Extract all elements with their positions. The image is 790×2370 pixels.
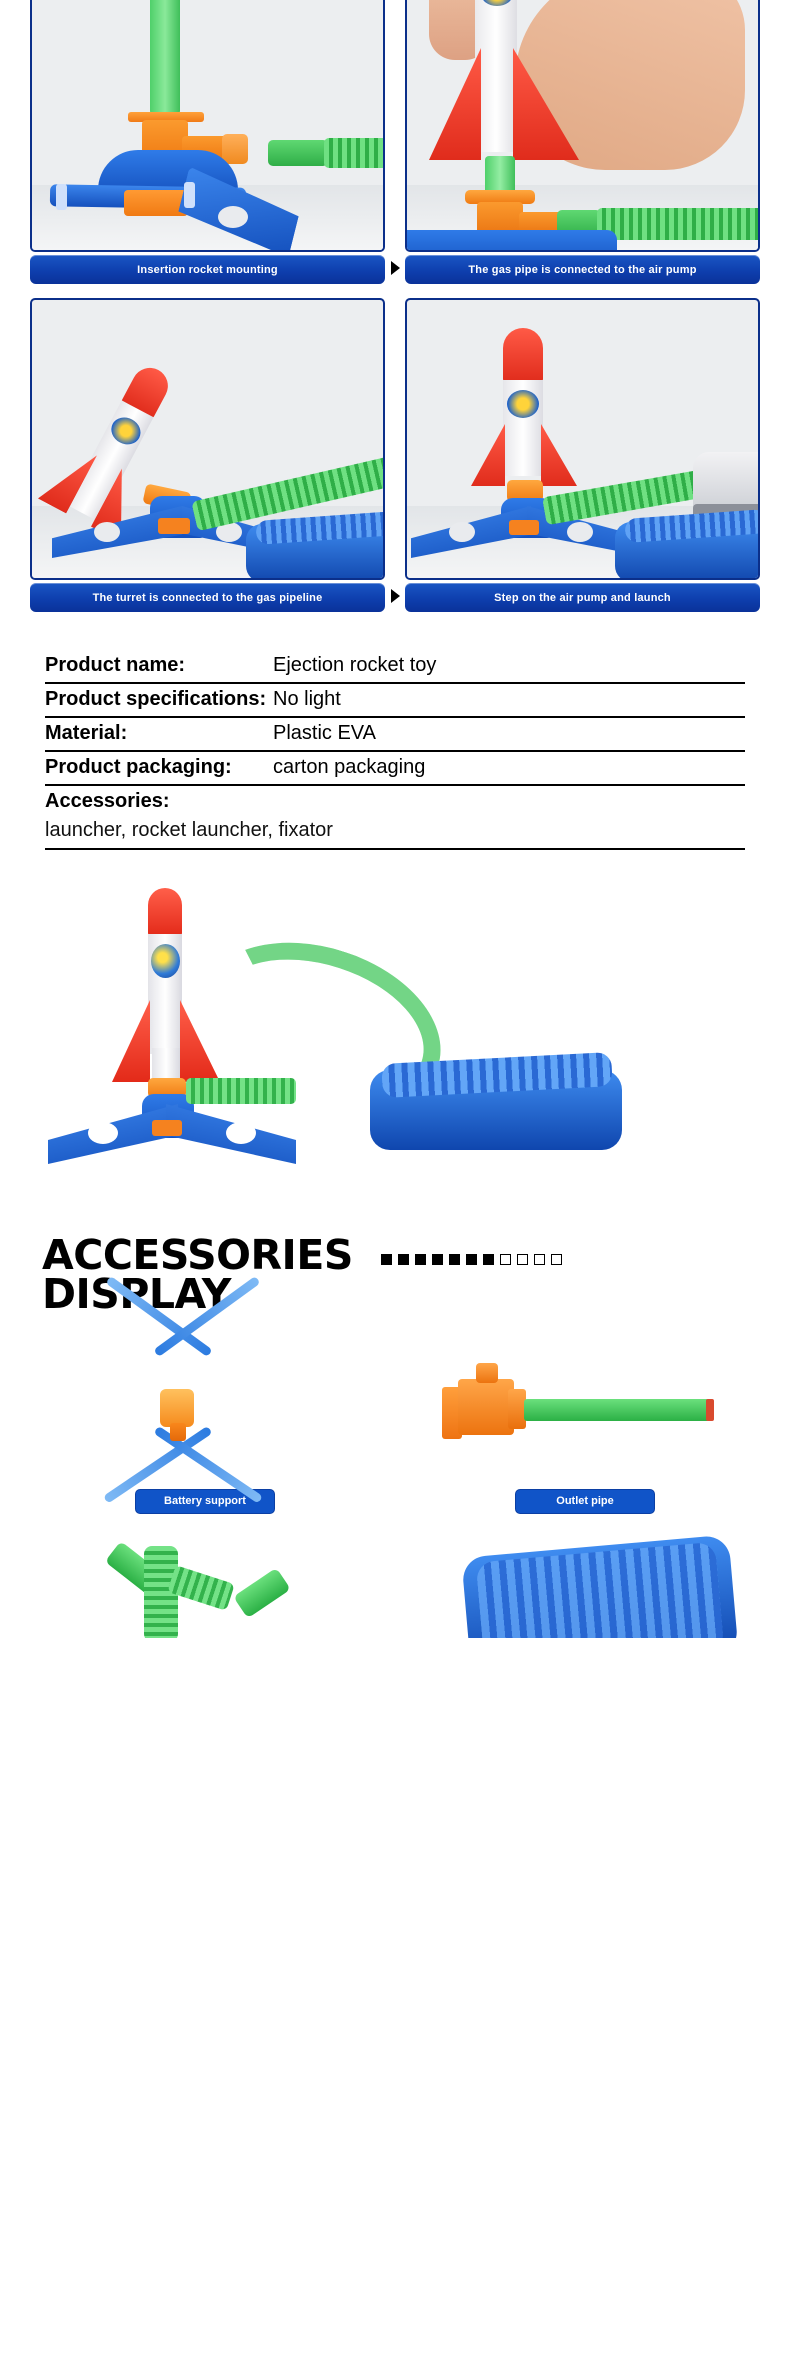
- assembly-steps-section: Insertion rocket mounting The gas pipe i…: [0, 0, 790, 612]
- dot-filled-icon: [381, 1254, 392, 1265]
- dot-filled-icon: [432, 1254, 443, 1265]
- step-captions-row-1: Insertion rocket mounting The gas pipe i…: [30, 252, 760, 284]
- spec-key: Product packaging:: [45, 756, 273, 779]
- accessories-row-2: [40, 1528, 750, 1638]
- accessories-display-header: ACCESSORIES DISPLAY: [0, 1192, 790, 1315]
- step-photo-2: [405, 0, 760, 252]
- spec-value: No light: [273, 688, 341, 711]
- step-photo-4: [405, 298, 760, 580]
- accessories-grid: Battery support Outlet pipe: [0, 1315, 790, 1638]
- step-caption-3: The turret is connected to the gas pipel…: [30, 583, 385, 612]
- spec-value: Ejection rocket toy: [273, 654, 436, 677]
- step-photo-1: [30, 0, 385, 252]
- spec-row-material: Material: Plastic EVA: [45, 718, 745, 752]
- accessories-row-1: Battery support Outlet pipe: [40, 1333, 750, 1514]
- spec-row-product-packaging: Product packaging: carton packaging: [45, 752, 745, 786]
- step-caption-2: The gas pipe is connected to the air pum…: [405, 255, 760, 284]
- step-panel-3: [30, 298, 385, 580]
- spec-value-accessories: launcher, rocket launcher, fixator: [45, 813, 745, 850]
- step-caption-4: Step on the air pump and launch: [405, 583, 760, 612]
- outlet-pipe-image: [420, 1333, 750, 1483]
- dot-filled-icon: [398, 1254, 409, 1265]
- spec-row-product-specifications: Product specifications: No light: [45, 684, 745, 718]
- air-pump-image: [420, 1528, 750, 1638]
- spec-key: Material:: [45, 722, 273, 745]
- accessory-item-battery-support: Battery support: [40, 1333, 370, 1514]
- accessory-item-outlet-pipe: Outlet pipe: [420, 1333, 750, 1514]
- hose-image: [40, 1528, 370, 1638]
- dot-hollow-icon: [534, 1254, 545, 1265]
- spec-value: carton packaging: [273, 756, 425, 779]
- step-arrow-icon-1: [385, 261, 405, 275]
- accessories-title-line-2: DISPLAY: [42, 1275, 353, 1314]
- step-caption-1: Insertion rocket mounting: [30, 255, 385, 284]
- step-panel-2: [405, 0, 760, 252]
- spec-value: Plastic EVA: [273, 722, 376, 745]
- decorative-dots: [381, 1254, 562, 1265]
- dot-filled-icon: [466, 1254, 477, 1265]
- step-panel-4: [405, 298, 760, 580]
- accessory-item-hose: [40, 1528, 370, 1638]
- spec-key: Product name:: [45, 654, 273, 677]
- hero-product-image: [0, 882, 790, 1192]
- accessory-label-outlet-pipe: Outlet pipe: [515, 1489, 655, 1514]
- accessory-item-air-pump: [420, 1528, 750, 1638]
- dot-filled-icon: [483, 1254, 494, 1265]
- product-detail-page: Insertion rocket mounting The gas pipe i…: [0, 0, 790, 1638]
- spec-row-product-name: Product name: Ejection rocket toy: [45, 650, 745, 684]
- dot-filled-icon: [415, 1254, 426, 1265]
- dot-filled-icon: [449, 1254, 460, 1265]
- accessories-display-title: ACCESSORIES DISPLAY: [42, 1236, 353, 1315]
- step-row-1: [30, 0, 760, 252]
- step-photo-3: [30, 298, 385, 580]
- step-arrow-icon-2: [385, 589, 405, 603]
- step-panel-1: [30, 0, 385, 252]
- dot-hollow-icon: [517, 1254, 528, 1265]
- step-captions-row-2: The turret is connected to the gas pipel…: [30, 580, 760, 612]
- spec-key-accessories: Accessories:: [45, 790, 745, 813]
- spec-row-accessories: Accessories: launcher, rocket launcher, …: [45, 786, 745, 850]
- battery-support-image: [40, 1333, 370, 1483]
- step-row-2: [30, 298, 760, 580]
- dot-hollow-icon: [551, 1254, 562, 1265]
- specification-table: Product name: Ejection rocket toy Produc…: [45, 650, 745, 850]
- spec-key: Product specifications:: [45, 688, 273, 711]
- dot-hollow-icon: [500, 1254, 511, 1265]
